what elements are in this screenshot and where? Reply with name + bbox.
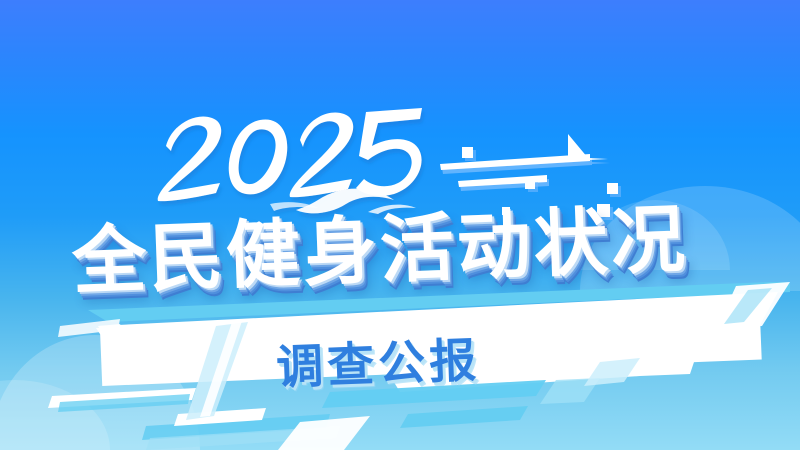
page-subtitle: 调查公报 <box>275 321 481 397</box>
decor-square <box>607 183 618 194</box>
decor-square <box>462 147 473 158</box>
arrow-icon <box>440 128 660 203</box>
poster-banner: 全民健身活动状况 <box>0 0 800 450</box>
year-script <box>150 104 410 204</box>
decor-square <box>525 179 535 189</box>
